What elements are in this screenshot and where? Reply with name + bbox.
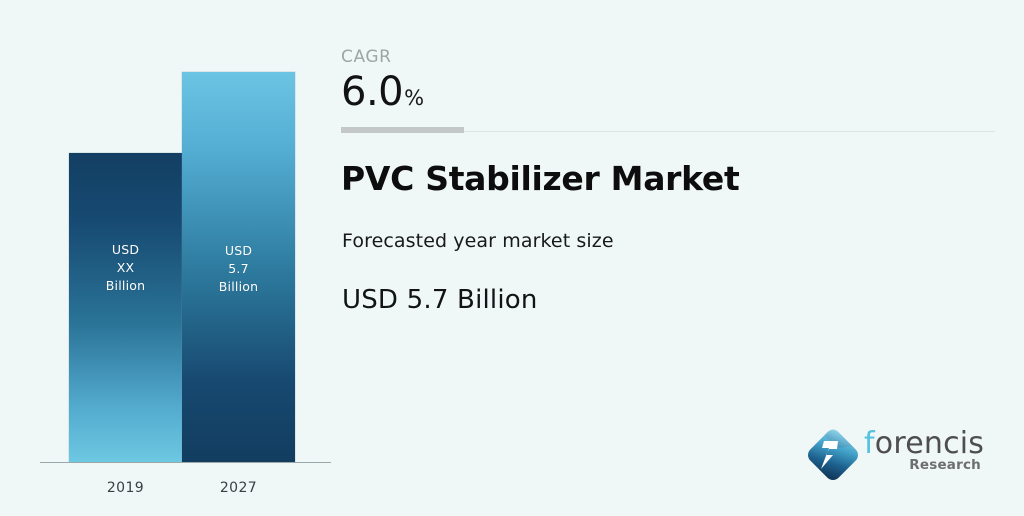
bar-2019-currency: USD xyxy=(69,241,182,259)
divider-accent-segment xyxy=(341,127,464,133)
cagr-value-row: 6.0 % xyxy=(341,71,424,113)
bar-2027-amount: 5.7 xyxy=(182,260,295,278)
logo-name-initial: f xyxy=(864,426,875,461)
page-title: PVC Stabilizer Market xyxy=(341,159,739,198)
forencis-diamond-logo-icon xyxy=(802,424,864,486)
axis-label-2019: 2019 xyxy=(69,480,182,496)
bar-2027: USD 5.7 Billion xyxy=(182,72,295,462)
axis-label-2027: 2027 xyxy=(182,480,295,496)
bar-2019: USD XX Billion xyxy=(69,153,182,462)
market-size-value: USD 5.7 Billion xyxy=(342,285,538,315)
bar-chart: USD XX Billion USD 5.7 Billion 2019 2027 xyxy=(0,0,340,516)
bar-2019-amount: XX xyxy=(69,259,182,277)
bar-2019-unit: Billion xyxy=(69,277,182,295)
infographic-canvas: USD XX Billion USD 5.7 Billion 2019 2027… xyxy=(0,0,1024,516)
cagr-percent-sign: % xyxy=(404,88,424,109)
logo-name-rest: orencis xyxy=(875,426,984,461)
logo-name: forencis xyxy=(864,428,982,460)
x-axis-line xyxy=(40,462,331,463)
logo-wordmark: forencis Research xyxy=(864,428,982,473)
market-subtitle: Forecasted year market size xyxy=(342,230,614,252)
bar-2027-unit: Billion xyxy=(182,278,295,296)
forencis-research-logo: forencis Research xyxy=(802,420,982,490)
bar-2027-label: USD 5.7 Billion xyxy=(182,242,295,296)
cagr-label: CAGR xyxy=(341,47,392,67)
bar-2027-currency: USD xyxy=(182,242,295,260)
cagr-value: 6.0 xyxy=(341,71,403,113)
bar-2019-label: USD XX Billion xyxy=(69,241,182,295)
